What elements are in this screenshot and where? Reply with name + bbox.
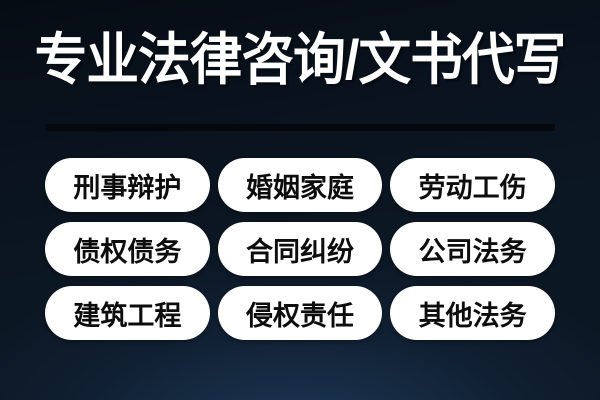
title-divider [45, 124, 555, 131]
service-row: 刑事辩护 婚姻家庭 劳动工伤 [45, 158, 555, 212]
service-pill-contract-disputes[interactable]: 合同纠纷 [218, 222, 383, 276]
service-row: 建筑工程 侵权责任 其他法务 [45, 286, 555, 340]
service-pill-grid: 刑事辩护 婚姻家庭 劳动工伤 债权债务 合同纠纷 公司法务 [45, 158, 555, 340]
service-pill-label: 公司法务 [419, 230, 527, 269]
headline-title: 专业法律咨询/文书代写 [18, 32, 582, 88]
service-pill-label: 侵权责任 [246, 294, 354, 333]
service-pill-label: 债权债务 [73, 230, 181, 269]
service-pill-corporate-legal[interactable]: 公司法务 [390, 222, 555, 276]
service-pill-label: 婚姻家庭 [246, 166, 354, 205]
service-pill-label: 刑事辩护 [73, 166, 181, 205]
banner-content: 专业法律咨询/文书代写 刑事辩护 婚姻家庭 劳动工伤 债权债务 合同 [0, 0, 600, 400]
service-pill-label: 其他法务 [419, 294, 527, 333]
service-pill-label: 合同纠纷 [246, 230, 354, 269]
service-pill-other-legal[interactable]: 其他法务 [390, 286, 555, 340]
service-pill-marriage-family[interactable]: 婚姻家庭 [218, 158, 383, 212]
service-pill-tort-liability[interactable]: 侵权责任 [218, 286, 383, 340]
service-pill-label: 劳动工伤 [419, 166, 527, 205]
service-pill-debt-claims[interactable]: 债权债务 [45, 222, 210, 276]
service-pill-labor-injury[interactable]: 劳动工伤 [390, 158, 555, 212]
promo-banner: 专业法律咨询/文书代写 刑事辩护 婚姻家庭 劳动工伤 债权债务 合同 [0, 0, 600, 400]
service-pill-criminal-defense[interactable]: 刑事辩护 [45, 158, 210, 212]
service-pill-construction-engineering[interactable]: 建筑工程 [45, 286, 210, 340]
service-pill-label: 建筑工程 [73, 294, 181, 333]
service-row: 债权债务 合同纠纷 公司法务 [45, 222, 555, 276]
